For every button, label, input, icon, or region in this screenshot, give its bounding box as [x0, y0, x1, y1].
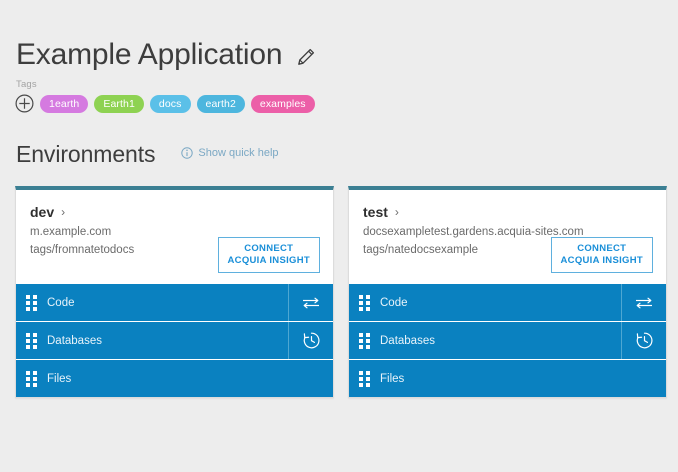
environment-name-link[interactable]: test ›: [363, 204, 652, 220]
drag-handle-icon[interactable]: [359, 333, 370, 349]
pencil-icon[interactable]: [296, 47, 316, 67]
application-page: Example Application Tags 1earth Earth1 d…: [0, 0, 678, 472]
drag-handle-icon[interactable]: [359, 295, 370, 311]
resource-row-code: Code: [349, 284, 666, 322]
environment-card-body: test › docsexampletest.gardens.acquia-si…: [349, 190, 666, 283]
chevron-right-icon: ›: [61, 206, 65, 218]
connect-acquia-insight-button[interactable]: CONNECT ACQUIA INSIGHT: [551, 237, 654, 273]
resource-label: Databases: [380, 335, 435, 347]
resource-row-main[interactable]: Databases: [16, 322, 288, 359]
history-clock-icon[interactable]: [621, 322, 666, 359]
resource-row-files: Files: [16, 360, 333, 397]
resource-row-main[interactable]: Files: [349, 360, 666, 397]
connect-button-line1: CONNECT: [561, 243, 644, 255]
drag-handle-icon[interactable]: [359, 371, 370, 387]
resource-row-databases: Databases: [349, 322, 666, 360]
tag-chip[interactable]: 1earth: [40, 95, 88, 113]
environment-name: dev: [30, 204, 54, 220]
tag-chip[interactable]: earth2: [197, 95, 245, 113]
sync-arrows-icon[interactable]: [621, 284, 666, 321]
info-circle-icon: [181, 147, 193, 159]
drag-handle-icon[interactable]: [26, 371, 37, 387]
environment-resource-rows: Code: [349, 283, 666, 397]
tags-label: Tags: [16, 79, 37, 90]
environments-heading: Environments: [16, 141, 155, 168]
tag-chip[interactable]: examples: [251, 95, 315, 113]
show-quick-help-label: Show quick help: [198, 147, 278, 159]
environment-name: test: [363, 204, 388, 220]
drag-handle-icon[interactable]: [26, 333, 37, 349]
environment-resource-rows: Code: [16, 283, 333, 397]
tags-list: 1earth Earth1 docs earth2 examples: [15, 94, 315, 113]
connect-button-line2: ACQUIA INSIGHT: [228, 255, 311, 267]
resource-row-main[interactable]: Code: [349, 284, 621, 321]
connect-button-line1: CONNECT: [228, 243, 311, 255]
history-clock-icon[interactable]: [288, 322, 333, 359]
resource-label: Code: [380, 297, 408, 309]
page-title: Example Application: [16, 38, 282, 71]
chevron-right-icon: ›: [395, 206, 399, 218]
resource-row-code: Code: [16, 284, 333, 322]
connect-button-line2: ACQUIA INSIGHT: [561, 255, 644, 267]
environment-card-body: dev › m.example.com tags/fromnatetodocs …: [16, 190, 333, 283]
environments-heading-row: Environments Show quick help: [16, 141, 279, 168]
environment-card-dev: dev › m.example.com tags/fromnatetodocs …: [15, 186, 334, 398]
environments-card-list: dev › m.example.com tags/fromnatetodocs …: [15, 186, 668, 398]
resource-label: Files: [47, 373, 71, 385]
resource-row-main[interactable]: Code: [16, 284, 288, 321]
tag-chip[interactable]: Earth1: [94, 95, 144, 113]
sync-arrows-icon[interactable]: [288, 284, 333, 321]
tag-chip[interactable]: docs: [150, 95, 191, 113]
environment-name-link[interactable]: dev ›: [30, 204, 319, 220]
resource-label: Files: [380, 373, 404, 385]
connect-acquia-insight-button[interactable]: CONNECT ACQUIA INSIGHT: [218, 237, 321, 273]
environment-card-test: test › docsexampletest.gardens.acquia-si…: [348, 186, 667, 398]
plus-circle-icon[interactable]: [15, 94, 34, 113]
resource-row-databases: Databases: [16, 322, 333, 360]
resource-row-files: Files: [349, 360, 666, 397]
resource-label: Databases: [47, 335, 102, 347]
page-title-row: Example Application: [16, 38, 316, 71]
resource-row-main[interactable]: Databases: [349, 322, 621, 359]
drag-handle-icon[interactable]: [26, 295, 37, 311]
resource-label: Code: [47, 297, 75, 309]
show-quick-help-link[interactable]: Show quick help: [181, 147, 278, 159]
resource-row-main[interactable]: Files: [16, 360, 333, 397]
